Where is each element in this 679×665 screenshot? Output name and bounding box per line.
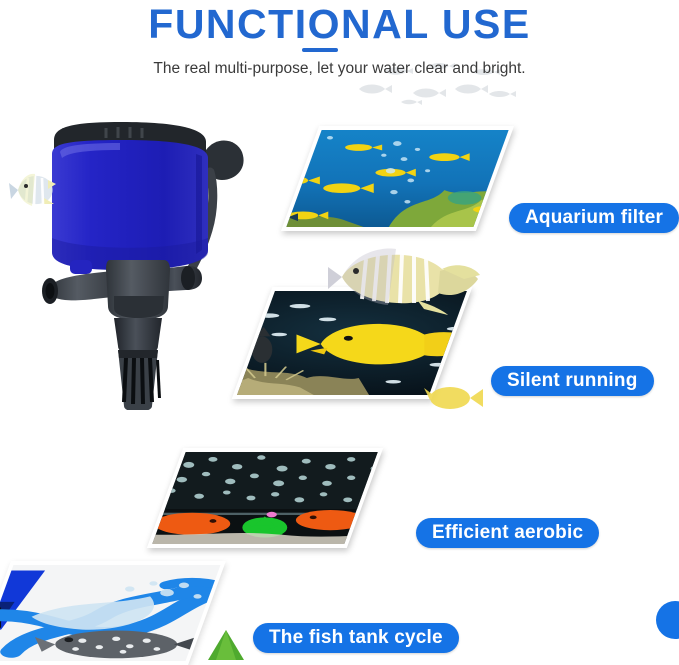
feature-badge-silent-running[interactable]: Silent running [491,366,654,396]
product-feature-graphic: FUNCTIONAL USE The real multi-purpose, l… [0,0,679,665]
aquarium-scene [286,130,508,227]
title-divider [302,48,338,52]
aquarium-filter-photo[interactable] [281,126,514,231]
photo-inner [152,452,377,544]
feature-badge-efficient-aerobic[interactable]: Efficient aerobic [416,518,599,548]
efficient-aerobic-photo[interactable] [147,448,383,548]
aerobic-tank-scene [152,452,377,544]
butterflyfish-decoration [322,243,482,315]
submersible-aquarium-pump [10,110,260,410]
small-yellow-fish-decoration [424,378,484,414]
fish-tank-cycle-photo[interactable] [0,561,226,665]
water-cycle-scene [0,565,220,661]
photo-inner [0,565,220,661]
feature-badge-aquarium-filter[interactable]: Aquarium filter [509,203,679,233]
feature-badge-fish-tank-cycle[interactable]: The fish tank cycle [253,623,459,653]
angelfish-decoration [8,168,60,212]
green-leaf-triangle-decoration [206,628,246,662]
page-subtitle: The real multi-purpose, let your water c… [0,58,679,80]
photo-inner [286,130,508,227]
blue-circle-decoration [655,600,679,640]
page-title: FUNCTIONAL USE [0,2,679,46]
